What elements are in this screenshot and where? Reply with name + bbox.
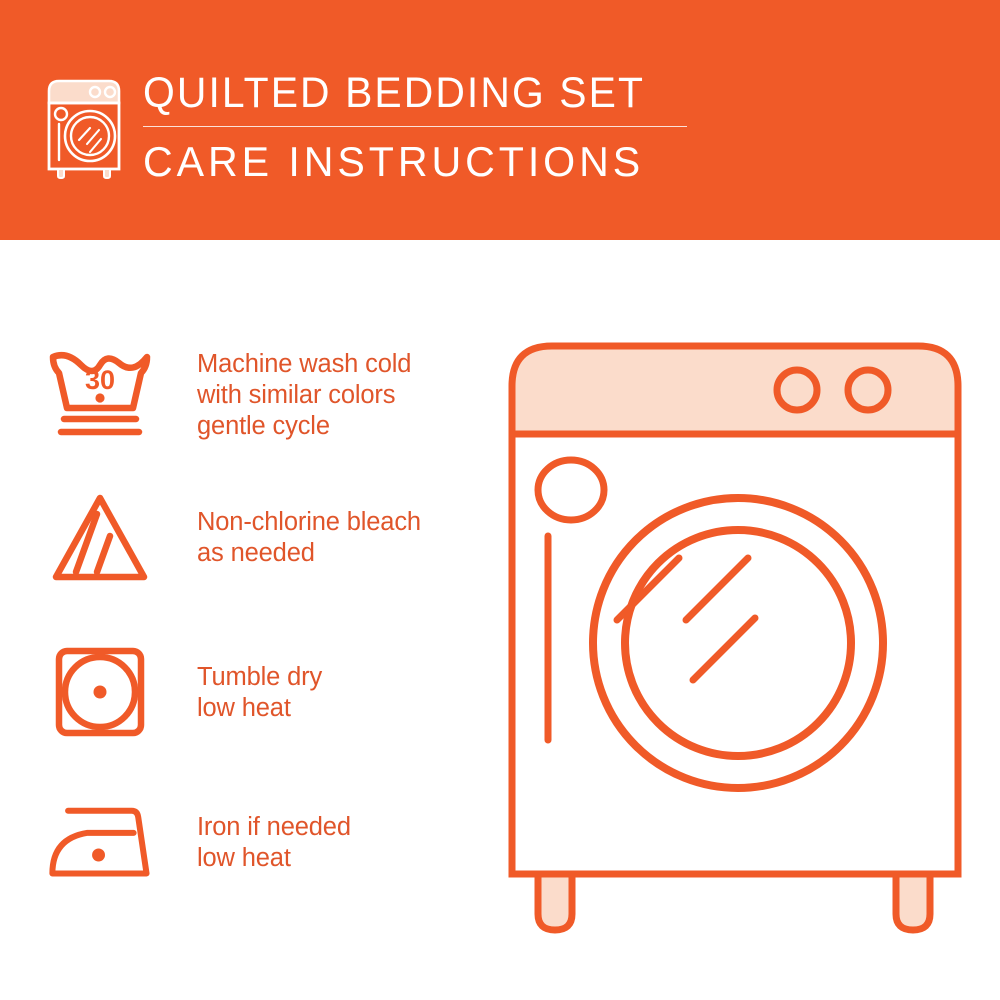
iron-icon <box>45 788 165 898</box>
care-label-bleach: Non-chlorine bleach as needed <box>197 507 421 569</box>
washing-machine-illustration <box>490 330 980 940</box>
page-title: QUILTED BEDDING SET <box>143 68 675 118</box>
care-instructions-list: 30 Machine wash cold with similar colors… <box>0 240 500 1000</box>
care-row-machine-wash: 30 Machine wash cold with similar colors… <box>0 340 500 450</box>
care-label-iron: Iron if needed low heat <box>197 812 351 874</box>
machine-foot-left <box>538 874 572 930</box>
care-instructions-infographic: QUILTED BEDDING SET CARE INSTRUCTIONS 30 <box>0 0 1000 1000</box>
header-banner: QUILTED BEDDING SET CARE INSTRUCTIONS <box>0 0 1000 240</box>
control-knob-1 <box>777 370 817 410</box>
care-row-tumble-dry: Tumble dry low heat <box>0 638 500 748</box>
title-divider <box>143 126 687 127</box>
care-label-tumble-dry: Tumble dry low heat <box>197 662 322 724</box>
bleach-triangle-icon <box>45 483 165 593</box>
header-text-block: QUILTED BEDDING SET CARE INSTRUCTIONS <box>143 68 703 186</box>
wash-tub-30-icon: 30 <box>45 340 165 450</box>
care-row-iron: Iron if needed low heat <box>0 788 500 898</box>
washing-machine-icon <box>45 72 123 180</box>
svg-text:30: 30 <box>85 365 115 395</box>
care-label-machine-wash: Machine wash cold with similar colors ge… <box>197 349 411 442</box>
machine-foot-right <box>896 874 930 930</box>
tumble-dry-icon <box>45 638 165 748</box>
care-row-bleach: Non-chlorine bleach as needed <box>0 483 500 593</box>
control-knob-2 <box>848 370 888 410</box>
page-subtitle: CARE INSTRUCTIONS <box>143 138 692 186</box>
